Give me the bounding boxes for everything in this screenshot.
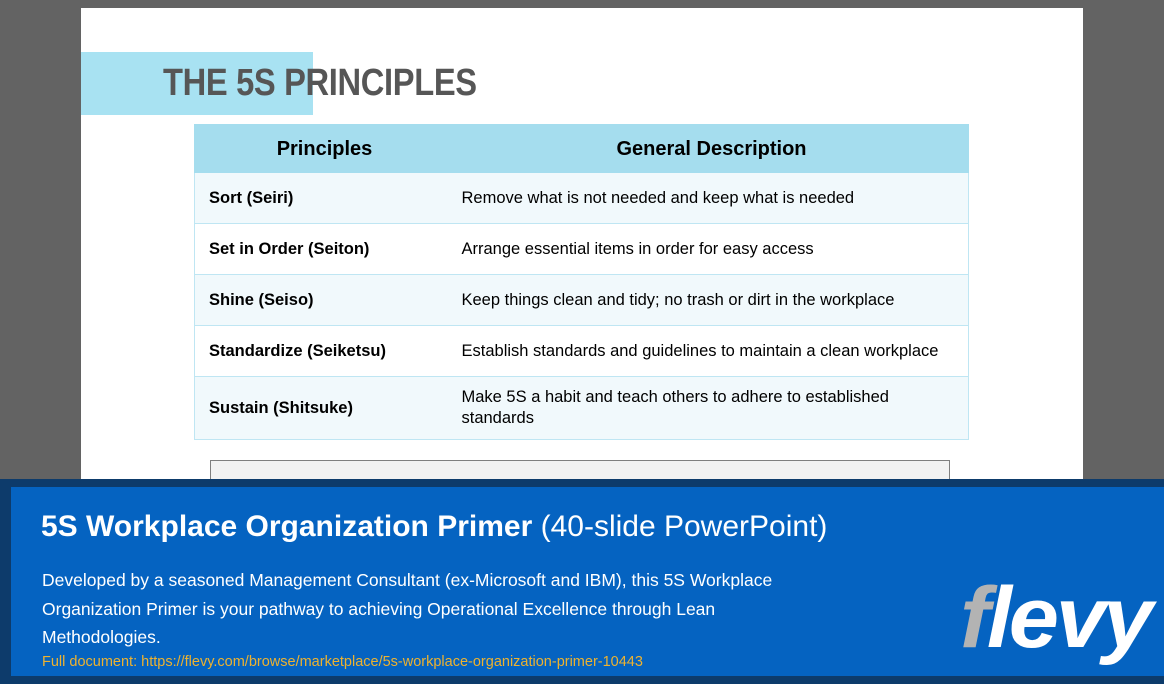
presentation-slide: THE 5S PRINCIPLES Principles General Des…: [81, 8, 1083, 488]
cell-description: Keep things clean and tidy; no trash or …: [455, 275, 969, 326]
full-document-link[interactable]: Full document: https://flevy.com/browse/…: [42, 654, 643, 670]
promo-banner-inner: 5S Workplace Organization Primer (40-sli…: [11, 487, 1164, 676]
cell-description: Arrange essential items in order for eas…: [455, 224, 969, 275]
table-row: Standardize (Seiketsu) Establish standar…: [195, 326, 969, 377]
cell-description: Make 5S a habit and teach others to adhe…: [455, 377, 969, 440]
table-header-row: Principles General Description: [195, 125, 969, 173]
table-header: Principles General Description: [195, 125, 969, 173]
cell-principle: Sort (Seiri): [195, 173, 455, 224]
table-body: Sort (Seiri) Remove what is not needed a…: [195, 173, 969, 440]
flevy-logo: flevy: [960, 575, 1150, 661]
column-header-principles: Principles: [195, 125, 455, 173]
flevy-logo-levy: levy: [987, 570, 1150, 666]
table-row: Shine (Seiso) Keep things clean and tidy…: [195, 275, 969, 326]
column-header-general-description: General Description: [455, 125, 969, 173]
cell-principle: Shine (Seiso): [195, 275, 455, 326]
cell-principle: Set in Order (Seiton): [195, 224, 455, 275]
cell-description: Remove what is not needed and keep what …: [455, 173, 969, 224]
table-row: Sustain (Shitsuke) Make 5S a habit and t…: [195, 377, 969, 440]
page-title: THE 5S PRINCIPLES: [163, 60, 593, 108]
promo-title-suffix: (40-slide PowerPoint): [532, 510, 827, 543]
table-row: Sort (Seiri) Remove what is not needed a…: [195, 173, 969, 224]
promo-banner: 5S Workplace Organization Primer (40-sli…: [0, 479, 1164, 684]
cell-principle: Sustain (Shitsuke): [195, 377, 455, 440]
cell-description: Establish standards and guidelines to ma…: [455, 326, 969, 377]
principles-table: Principles General Description Sort (Sei…: [194, 124, 969, 440]
promo-title: 5S Workplace Organization Primer (40-sli…: [41, 510, 827, 544]
promo-title-main: 5S Workplace Organization Primer: [41, 510, 532, 543]
promo-description: Developed by a seasoned Management Consu…: [42, 566, 802, 652]
flevy-logo-f: f: [960, 570, 987, 666]
table-row: Set in Order (Seiton) Arrange essential …: [195, 224, 969, 275]
cell-principle: Standardize (Seiketsu): [195, 326, 455, 377]
